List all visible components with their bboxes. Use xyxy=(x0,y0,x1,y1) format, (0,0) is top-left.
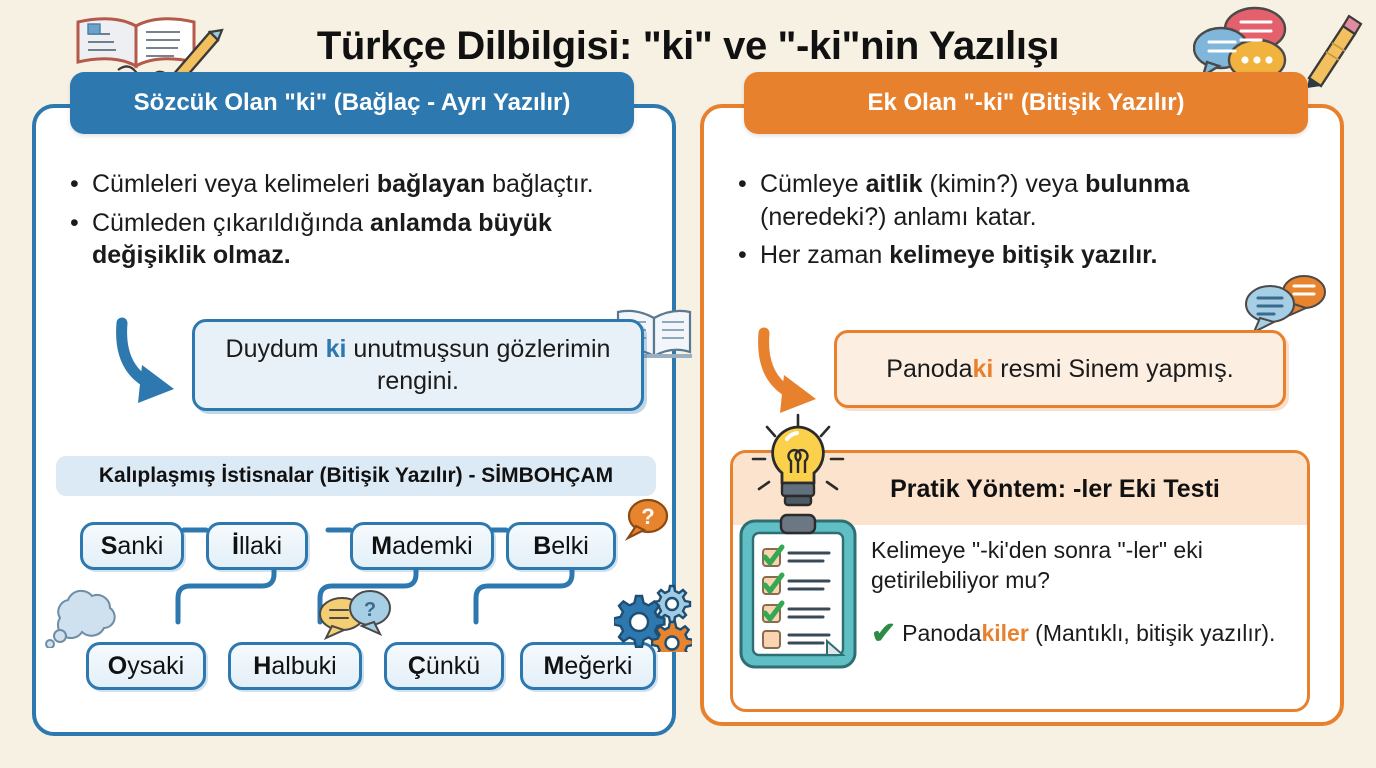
blue-arrow-icon xyxy=(112,313,194,412)
right-bullet-list: • Cümleye aitlik (kimin?) veya bulunma (… xyxy=(738,168,1314,278)
list-item: • Cümleye aitlik (kimin?) veya bulunma (… xyxy=(738,168,1314,233)
pratik-answer-text: Panodakiler (Mantıklı, bitişik yazılır). xyxy=(902,620,1275,647)
bullet-dot: • xyxy=(70,207,92,272)
pratik-title: Pratik Yöntem: -ler Eki Testi xyxy=(890,475,1220,504)
bullet-dot: • xyxy=(738,239,760,272)
bullet-text: Cümleye aitlik (kimin?) veya bulunma (ne… xyxy=(760,168,1314,233)
clipboard-checklist-icon xyxy=(735,513,861,678)
bullet-dot: • xyxy=(70,168,92,201)
page-title: Türkçe Dilbilgisi: "ki" ve "-ki"nin Yazı… xyxy=(317,24,1059,69)
pratik-answer: ✔ Panodakiler (Mantıklı, bitişik yazılır… xyxy=(871,620,1293,647)
bullet-text: Cümleden çıkarıldığında anlamda büyük de… xyxy=(92,207,646,272)
chip-cunku[interactable]: Çünkü xyxy=(384,642,504,690)
right-panel-header: Ek Olan "-ki" (Bitişik Yazılır) xyxy=(744,72,1308,134)
list-item: • Cümleleri veya kelimeleri bağlayan bağ… xyxy=(70,168,646,201)
gears-icon xyxy=(614,582,692,657)
bullet-dot: • xyxy=(738,168,760,233)
exceptions-title: Kalıplaşmış İstisnalar (Bitişik Yazılır)… xyxy=(56,456,656,496)
list-item: • Cümleden çıkarıldığında anlamda büyük … xyxy=(70,207,646,272)
chip-halbuki[interactable]: Halbuki xyxy=(228,642,362,690)
left-bullet-list: • Cümleleri veya kelimeleri bağlayan bağ… xyxy=(70,168,646,278)
left-example-text: Duydum ki unutmuşsun gözlerimin rengini. xyxy=(195,333,641,398)
pratik-question: Kelimeye "-ki'den sonra "-ler" eki getir… xyxy=(871,535,1293,596)
check-icon: ✔ xyxy=(871,620,896,647)
left-panel-header: Sözcük Olan "ki" (Bağlaç - Ayrı Yazılır) xyxy=(70,72,634,134)
infographic-page: Türkçe Dilbilgisi: "ki" ve "-ki"nin Yazı… xyxy=(0,0,1376,768)
list-item: • Her zaman kelimeye bitişik yazılır. xyxy=(738,239,1314,272)
right-example-text: Panodaki resmi Sinem yapmış. xyxy=(886,353,1233,386)
chip-belki[interactable]: Belki xyxy=(506,522,616,570)
pratik-yontem-card: Pratik Yöntem: -ler Eki Testi xyxy=(730,450,1310,712)
chip-sanki[interactable]: Sanki xyxy=(80,522,184,570)
thought-cloud-icon xyxy=(42,586,120,653)
svg-text:?: ? xyxy=(364,599,376,621)
right-example-box: Panodaki resmi Sinem yapmış. xyxy=(834,330,1286,408)
orange-arrow-icon xyxy=(754,323,836,422)
left-example-box: Duydum ki unutmuşsun gözlerimin rengini. xyxy=(192,319,644,411)
svg-text:?: ? xyxy=(641,504,654,529)
right-panel: Ek Olan "-ki" (Bitişik Yazılır) • Cümley… xyxy=(700,104,1344,726)
bullet-text: Cümleleri veya kelimeleri bağlayan bağla… xyxy=(92,168,646,201)
question-speech-bubble-icon: ? xyxy=(622,496,670,547)
left-panel: Sözcük Olan "ki" (Bağlaç - Ayrı Yazılır)… xyxy=(32,104,676,736)
chat-bubbles-icon: ? xyxy=(314,588,398,645)
chip-illaki[interactable]: İllaki xyxy=(206,522,308,570)
lightbulb-icon xyxy=(743,409,853,526)
pratik-body: Kelimeye "-ki'den sonra "-ler" eki getir… xyxy=(871,535,1293,647)
chip-mademki[interactable]: Mademki xyxy=(350,522,494,570)
bullet-text: Her zaman kelimeye bitişik yazılır. xyxy=(760,239,1314,272)
